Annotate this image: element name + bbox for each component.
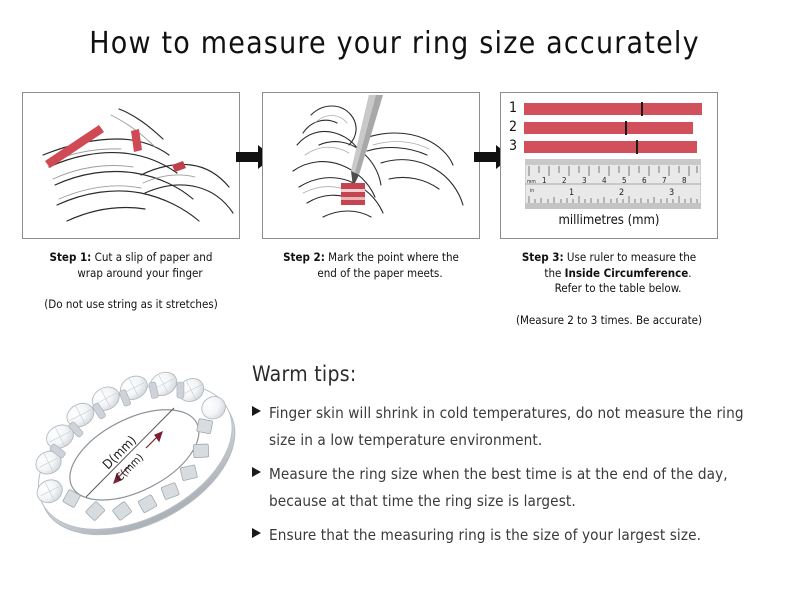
- step-2-lead: Step 2:: [283, 250, 325, 264]
- svg-text:mm: mm: [527, 179, 536, 185]
- tip-item: Measure the ring size when the best time…: [252, 461, 772, 515]
- ring-diagram: D(mm) C(mm): [24, 352, 252, 567]
- step-3-lead: Step 3:: [522, 250, 564, 264]
- strip-mark: [625, 121, 627, 135]
- step-2-line-1: Mark the point where the: [328, 250, 459, 264]
- bullet-triangle-icon: [252, 400, 269, 454]
- svg-text:3: 3: [669, 188, 674, 198]
- eternity-ring-illustration: D(mm) C(mm): [24, 352, 252, 567]
- paper-strip-loose: [45, 125, 104, 168]
- page-title: How to measure your ring size accurately: [0, 26, 789, 61]
- svg-text:1: 1: [569, 188, 574, 198]
- svg-text:2: 2: [619, 188, 624, 198]
- step-1-illustration: [22, 92, 240, 239]
- step-2-caption: Step 2: Mark the point where the end of …: [262, 250, 480, 281]
- strip-number: 3: [509, 139, 524, 154]
- svg-text:2: 2: [562, 176, 567, 185]
- step-1-caption: Step 1: Cut a slip of paper and wrap aro…: [22, 250, 240, 281]
- step-2: Step 2: Mark the point where the end of …: [262, 92, 480, 281]
- step-1-line-2: wrap around your finger: [22, 266, 240, 282]
- step-1-line-1: Cut a slip of paper and: [95, 250, 213, 264]
- tip-text: Finger skin will shrink in cold temperat…: [269, 400, 772, 454]
- strip-mark: [636, 140, 638, 154]
- tip-item: Ensure that the measuring ring is the si…: [252, 522, 772, 549]
- ring-size-guide: How to measure your ring size accurately: [0, 0, 789, 606]
- step-3-line-3: Refer to the table below.: [500, 281, 718, 297]
- strip-number: 1: [509, 101, 524, 116]
- strip-mark: [641, 102, 643, 116]
- svg-text:7: 7: [662, 176, 667, 185]
- hand-with-paper-strip-drawing: [23, 93, 239, 238]
- strip-row: 2: [509, 120, 709, 135]
- bullet-triangle-icon: [252, 522, 269, 549]
- svg-text:3: 3: [582, 176, 587, 185]
- strip-row: 1: [509, 101, 709, 116]
- tip-text: Measure the ring size when the best time…: [269, 461, 772, 515]
- step-1: Step 1: Cut a slip of paper and wrap aro…: [22, 92, 240, 311]
- warm-tips-section: Warm tips: Finger skin will shrink in co…: [252, 362, 772, 556]
- step-3-caption: Step 3: Use ruler to measure the the Ins…: [500, 250, 718, 297]
- strip-bar: [524, 103, 702, 115]
- step-3-bold-phrase: Inside Circumference: [565, 266, 689, 280]
- step-1-lead: Step 1:: [50, 250, 92, 264]
- step-3-note: (Measure 2 to 3 times. Be accurate): [500, 313, 718, 327]
- strip-number: 2: [509, 120, 524, 135]
- hands-marking-paper-drawing: [263, 93, 479, 238]
- strip-bar: [524, 122, 693, 134]
- svg-text:8: 8: [682, 176, 687, 185]
- tip-item: Finger skin will shrink in cold temperat…: [252, 400, 772, 454]
- steps-row: Step 1: Cut a slip of paper and wrap aro…: [0, 92, 789, 342]
- measured-strips: 1 2 3: [509, 101, 709, 158]
- svg-text:4: 4: [602, 176, 607, 185]
- ruler: 123 456 78 mm 123 in: [525, 159, 701, 209]
- step-2-illustration: [262, 92, 480, 239]
- step-2-line-2: end of the paper meets.: [262, 266, 480, 282]
- step-3-line-1: Use ruler to measure the: [567, 250, 696, 264]
- warm-tips-heading: Warm tips:: [252, 362, 772, 386]
- svg-text:in: in: [530, 188, 534, 194]
- ruler-unit-label: millimetres (mm): [501, 213, 717, 228]
- strip-bar: [524, 141, 697, 153]
- svg-text:5: 5: [622, 176, 627, 185]
- paper-strip-marked: [341, 183, 365, 205]
- svg-text:1: 1: [542, 176, 547, 185]
- tip-text: Ensure that the measuring ring is the si…: [269, 522, 701, 549]
- svg-text:6: 6: [642, 176, 647, 185]
- step-3: 1 2 3: [500, 92, 718, 327]
- step-1-note: (Do not use string as it stretches): [22, 297, 240, 311]
- step-3-illustration: 1 2 3: [500, 92, 718, 239]
- strip-row: 3: [509, 139, 709, 154]
- bullet-triangle-icon: [252, 461, 269, 515]
